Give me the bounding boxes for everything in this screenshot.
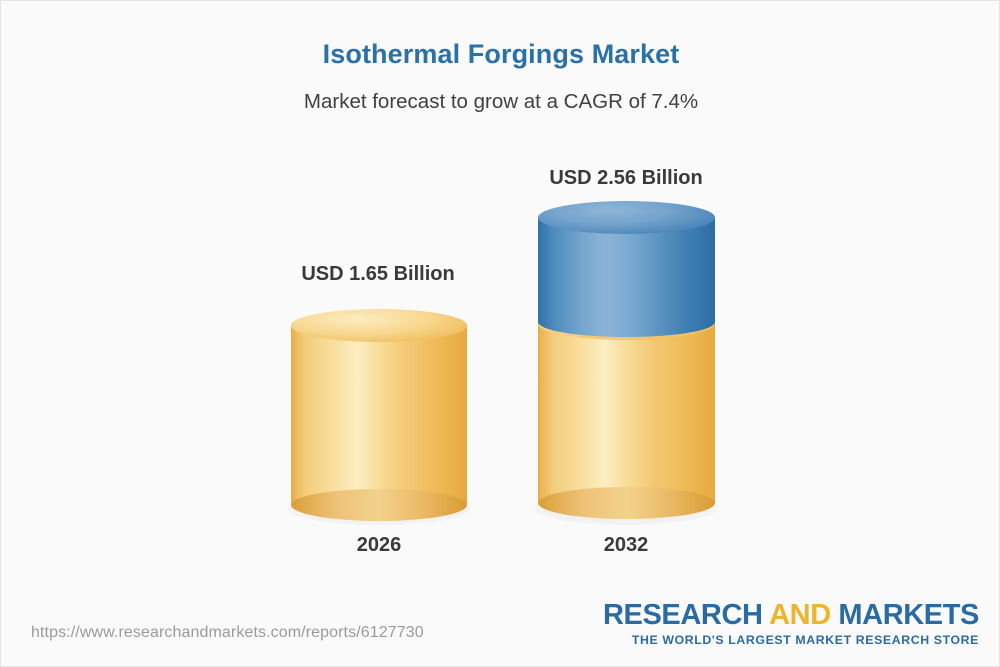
cylinder-body-gold-2026 — [291, 325, 467, 505]
logo-tagline: THE WORLD'S LARGEST MARKET RESEARCH STOR… — [603, 633, 979, 647]
cylinder-2026 — [291, 309, 467, 513]
logo-text-markets: MARKETS — [838, 599, 979, 631]
cylinder-blue-segment-2032 — [538, 201, 715, 339]
source-url[interactable]: https://www.researchandmarkets.com/repor… — [31, 624, 424, 642]
cylinder-blue-bottom-cap-2032 — [538, 307, 715, 337]
chart-plot-area: USD 1.65 Billion 2026 USD 2.56 Billion — [1, 1, 1000, 601]
cylinder-top-cap-2026 — [291, 309, 467, 342]
cylinder-bottom-cap-2026 — [291, 489, 467, 521]
cylinder-blue-top-cap-2032 — [538, 201, 715, 234]
logo-text-research: RESEARCH — [603, 599, 769, 631]
cylinder-bottom-cap-2032 — [538, 487, 715, 519]
bar-value-label-2026: USD 1.65 Billion — [278, 263, 478, 286]
logo-wordmark: RESEARCH AND MARKETS — [603, 601, 979, 631]
cylinder-body-gold-2032 — [538, 323, 715, 503]
chart-canvas: Isothermal Forgings Market Market foreca… — [0, 0, 1000, 667]
research-and-markets-logo[interactable]: RESEARCH AND MARKETS THE WORLD'S LARGEST… — [603, 601, 979, 647]
logo-text-and: AND — [769, 599, 838, 631]
bar-category-label-2032: 2032 — [536, 534, 716, 557]
bar-category-label-2026: 2026 — [289, 534, 469, 557]
bar-value-label-2032: USD 2.56 Billion — [526, 167, 726, 190]
